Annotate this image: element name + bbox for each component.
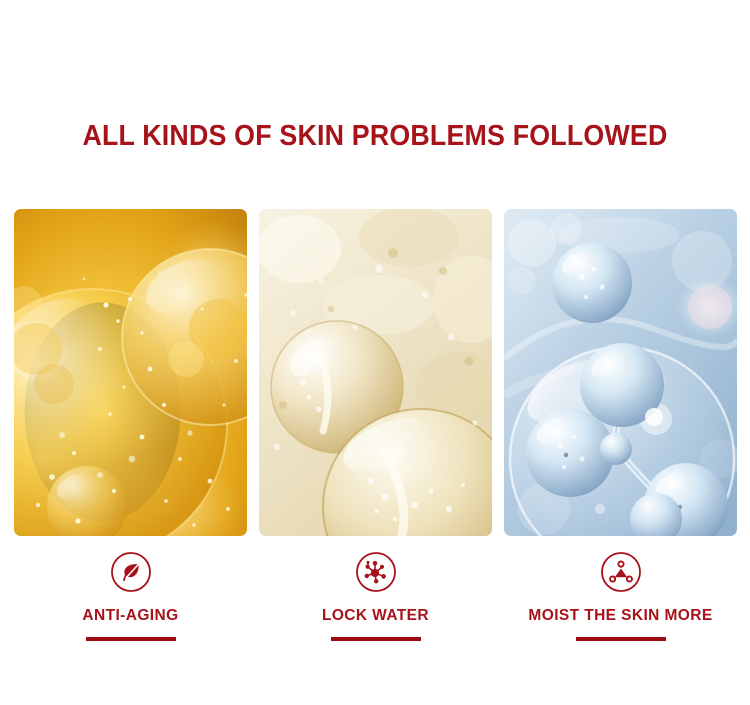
feature-label-lock-water: LOCK WATER xyxy=(322,607,429,625)
feature-underline xyxy=(576,637,666,641)
water-molecule-icon xyxy=(600,551,642,593)
feature-underline xyxy=(331,637,421,641)
feature-underline xyxy=(86,637,176,641)
water-molecule-image xyxy=(504,209,737,536)
promo-banner: ALL KINDS OF SKIN PROBLEMS FOLLOWED xyxy=(0,0,750,705)
feature-image-moist-the-skin-more xyxy=(504,209,737,536)
cream-bubbles-image xyxy=(259,209,492,536)
golden-bubbles-image xyxy=(14,209,247,536)
feature-item-lock-water[interactable]: LOCK WATER xyxy=(259,551,492,641)
feature-label-moist-the-skin-more: MOIST THE SKIN MORE xyxy=(528,607,712,625)
molecule-icon xyxy=(355,551,397,593)
feature-label-anti-aging: ANTI-AGING xyxy=(82,607,178,625)
feature-caption-row: ANTI-AGING xyxy=(14,551,737,641)
leaf-icon xyxy=(110,551,152,593)
feature-image-anti-aging xyxy=(14,209,247,536)
page-title: ALL KINDS OF SKIN PROBLEMS FOLLOWED xyxy=(23,119,728,153)
feature-item-anti-aging[interactable]: ANTI-AGING xyxy=(14,551,247,641)
feature-image-row xyxy=(14,209,737,536)
feature-image-lock-water xyxy=(259,209,492,536)
feature-item-moist-the-skin-more[interactable]: MOIST THE SKIN MORE xyxy=(504,551,737,641)
